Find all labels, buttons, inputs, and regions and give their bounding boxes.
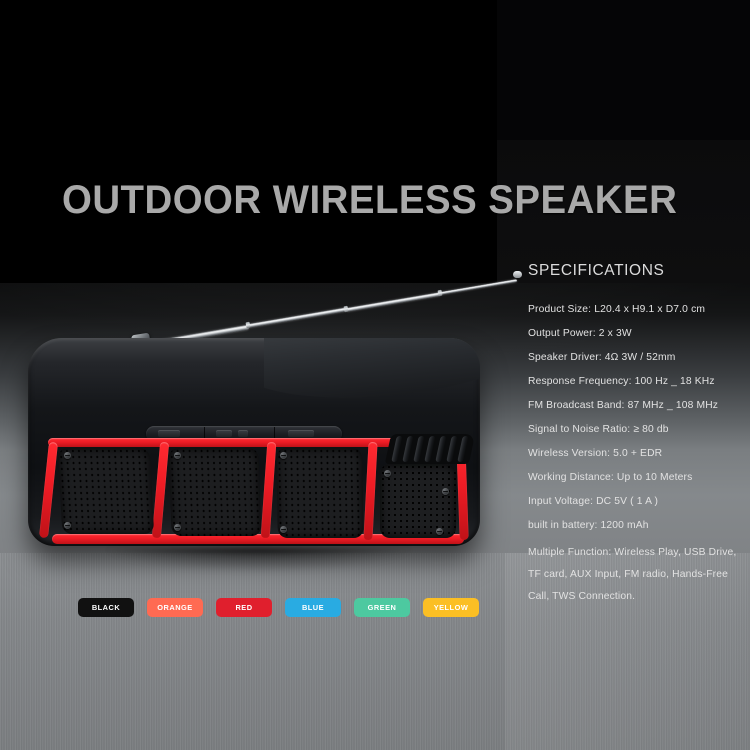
antenna-segment: [440, 279, 517, 295]
vent-rib: [446, 436, 458, 462]
contact-shadow: [58, 549, 458, 556]
speaker-body: [28, 338, 480, 546]
volume-button[interactable]: [238, 430, 248, 437]
specifications-panel: SPECIFICATIONS Product Size: L20.4 x H9.…: [528, 262, 742, 608]
product-banner: OUTDOOR WIRELESS SPEAKER: [0, 0, 750, 750]
next-button[interactable]: [288, 430, 314, 437]
antenna-segment: [248, 307, 347, 328]
antenna-joint: [438, 290, 443, 297]
vent-rib: [402, 436, 414, 462]
vent-rib: [457, 436, 469, 462]
color-swatch-label: RED: [235, 603, 252, 612]
speaker-grille-panel-end: [380, 464, 456, 538]
color-swatch-black[interactable]: BLACK: [78, 598, 134, 617]
speaker-grille-panel: [276, 448, 364, 538]
bass-vent: [385, 434, 475, 464]
antenna-tip: [513, 271, 522, 278]
antenna-joint: [246, 322, 251, 329]
spec-line: built in battery: 1200 mAh: [528, 514, 742, 538]
vent-rib: [424, 436, 436, 462]
spec-line-multiple-function: Multiple Function: Wireless Play, USB Dr…: [528, 542, 738, 608]
color-swatch-orange[interactable]: ORANGE: [147, 598, 203, 617]
color-swatch-blue[interactable]: BLUE: [285, 598, 341, 617]
specifications-heading: SPECIFICATIONS: [528, 262, 742, 280]
panel-screw: [280, 526, 287, 533]
panel-screw: [174, 452, 181, 459]
spec-line: Product Size: L20.4 x H9.1 x D7.0 cm: [528, 298, 742, 322]
color-swatch-label: BLUE: [302, 603, 324, 612]
speaker-grille-panel: [58, 448, 155, 534]
vent-rib: [413, 436, 425, 462]
spec-line: Output Power: 2 x 3W: [528, 322, 742, 346]
panel-screw: [384, 470, 391, 477]
black-header-panel: [0, 0, 497, 283]
dark-block-upper-right: [497, 0, 750, 140]
color-swatch-red[interactable]: RED: [216, 598, 272, 617]
color-swatch-yellow[interactable]: YELLOW: [423, 598, 479, 617]
color-options: BLACK ORANGE RED BLUE GREEN YELLOW: [78, 598, 479, 617]
antenna-joint: [344, 306, 349, 313]
color-swatch-green[interactable]: GREEN: [354, 598, 410, 617]
speaker-grille-panel: [168, 448, 261, 536]
panel-screw: [64, 452, 71, 459]
page-title: OUTDOOR WIRELESS SPEAKER: [62, 178, 677, 223]
prev-button[interactable]: [158, 430, 180, 437]
spec-line: Input Voltage: DC 5V ( 1 A ): [528, 490, 742, 514]
spec-line: Signal to Noise Ratio: ≥ 80 db: [528, 418, 742, 442]
spec-line: Wireless Version: 5.0 + EDR: [528, 442, 742, 466]
spec-line: Speaker Driver: 4Ω 3W / 52mm: [528, 346, 742, 370]
panel-screw: [174, 524, 181, 531]
spec-line: FM Broadcast Band: 87 MHz _ 108 MHz: [528, 394, 742, 418]
antenna-segment: [346, 292, 441, 312]
panel-screw: [280, 452, 287, 459]
color-swatch-label: BLACK: [92, 603, 120, 612]
spec-line: Working Distance: Up to 10 Meters: [528, 466, 742, 490]
color-swatch-label: GREEN: [368, 603, 397, 612]
panel-screw: [436, 528, 443, 535]
play-button[interactable]: [216, 430, 232, 437]
vent-rib: [391, 436, 403, 462]
speaker-shoulder: [264, 338, 480, 408]
product-image-speaker: [28, 256, 488, 556]
spec-line: Response Frequency: 100 Hz _ 18 KHz: [528, 370, 742, 394]
color-swatch-label: ORANGE: [157, 603, 192, 612]
panel-screw: [64, 522, 71, 529]
panel-screw: [442, 488, 449, 495]
vent-rib: [435, 436, 447, 462]
color-swatch-label: YELLOW: [434, 603, 469, 612]
